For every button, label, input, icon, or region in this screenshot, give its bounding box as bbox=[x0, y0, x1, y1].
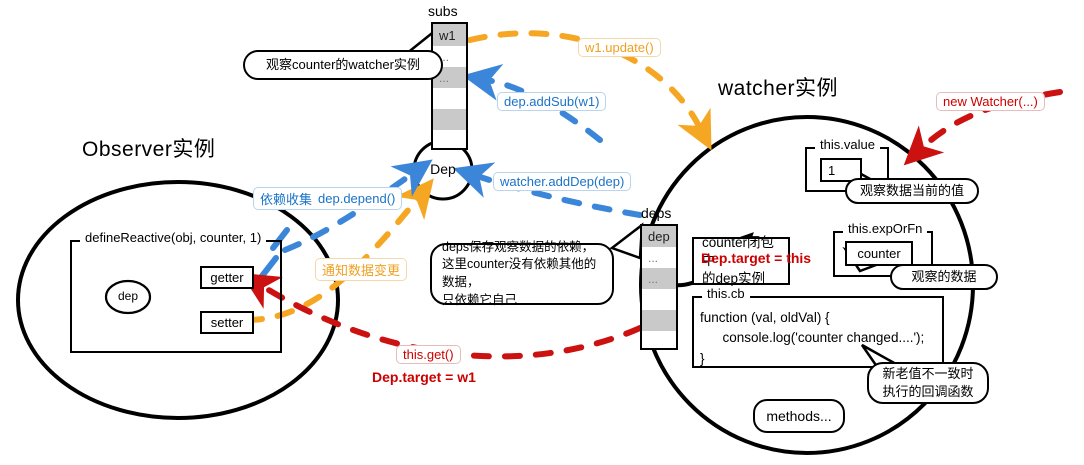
define-reactive-border bbox=[70, 240, 282, 353]
deps-stack: dep ... ... bbox=[640, 224, 678, 350]
dep-addsub-chip: dep.addSub(w1) bbox=[497, 92, 606, 111]
deps-cell-1: ... bbox=[642, 247, 676, 268]
dep-depend-chip: 依赖收集 dep.depend() bbox=[253, 187, 402, 210]
this-exporfn-box: counter bbox=[845, 241, 913, 266]
methods-pill: methods... bbox=[753, 399, 845, 433]
subs-cell-4 bbox=[433, 109, 466, 130]
watcher-title: watcher实例 bbox=[718, 72, 838, 102]
this-value-label: this.value bbox=[815, 137, 880, 152]
blue-flow-getter-to-dep bbox=[285, 174, 412, 250]
define-reactive-label: defineReactive(obj, counter, 1) bbox=[80, 230, 266, 245]
deps-cell-0: dep bbox=[642, 226, 676, 247]
value-hint-callout: 观察数据当前的值 bbox=[845, 178, 979, 204]
subs-cell-0: w1 bbox=[433, 24, 466, 46]
dep-circle-label: Dep bbox=[414, 161, 472, 177]
diagram-canvas: Observer实例 watcher实例 subs w1 ... ... Dep… bbox=[0, 0, 1084, 465]
subs-stack: w1 ... ... bbox=[431, 22, 468, 150]
w1-update-chip: w1.update() bbox=[578, 38, 661, 57]
exp-hint-callout: 观察的数据 bbox=[890, 264, 998, 290]
this-cb-code: function (val, oldVal) { console.log('co… bbox=[700, 308, 940, 369]
dep-target-w1-text: Dep.target = w1 bbox=[372, 369, 476, 385]
subs-cell-3 bbox=[433, 88, 466, 109]
new-watcher-chip: new Watcher(...) bbox=[936, 92, 1045, 111]
deps-cell-5 bbox=[642, 331, 676, 347]
setter-box: setter bbox=[200, 311, 254, 334]
observer-dep-label: dep bbox=[106, 289, 150, 303]
notify-change-chip: 通知数据变更 bbox=[315, 258, 407, 281]
this-exporfn-label: this.expOrFn bbox=[843, 221, 927, 236]
deps-note-callout: deps保存观察数据的依赖， 这里counter没有依赖其他的数据， 只依赖它自… bbox=[430, 243, 614, 305]
subs-label: subs bbox=[428, 3, 458, 19]
subs-cell-5 bbox=[433, 130, 466, 148]
dep-depend-code-text: dep.depend() bbox=[318, 191, 395, 206]
deps-cell-2: ... bbox=[642, 268, 676, 289]
this-get-chip: this.get() bbox=[396, 345, 461, 364]
define-reactive-group: defineReactive(obj, counter, 1) bbox=[70, 240, 282, 353]
this-cb-label: this.cb bbox=[702, 286, 750, 301]
deps-label: deps bbox=[641, 205, 671, 221]
watcher-adddep-chip: watcher.addDep(dep) bbox=[493, 172, 631, 191]
dep-depend-cn-text: 依赖收集 bbox=[260, 189, 312, 208]
subs-watcher-callout: 观察counter的watcher实例 bbox=[243, 50, 443, 80]
deps-callout-tail bbox=[612, 225, 642, 258]
observer-title: Observer实例 bbox=[82, 133, 215, 163]
getter-box: getter bbox=[200, 266, 254, 289]
cb-hint-callout: 新老值不一致时 执行的回调函数 bbox=[867, 362, 989, 404]
deps-cell-3 bbox=[642, 289, 676, 310]
dep-target-this-text: Dep.target = this bbox=[701, 250, 811, 266]
deps-cell-4 bbox=[642, 310, 676, 331]
